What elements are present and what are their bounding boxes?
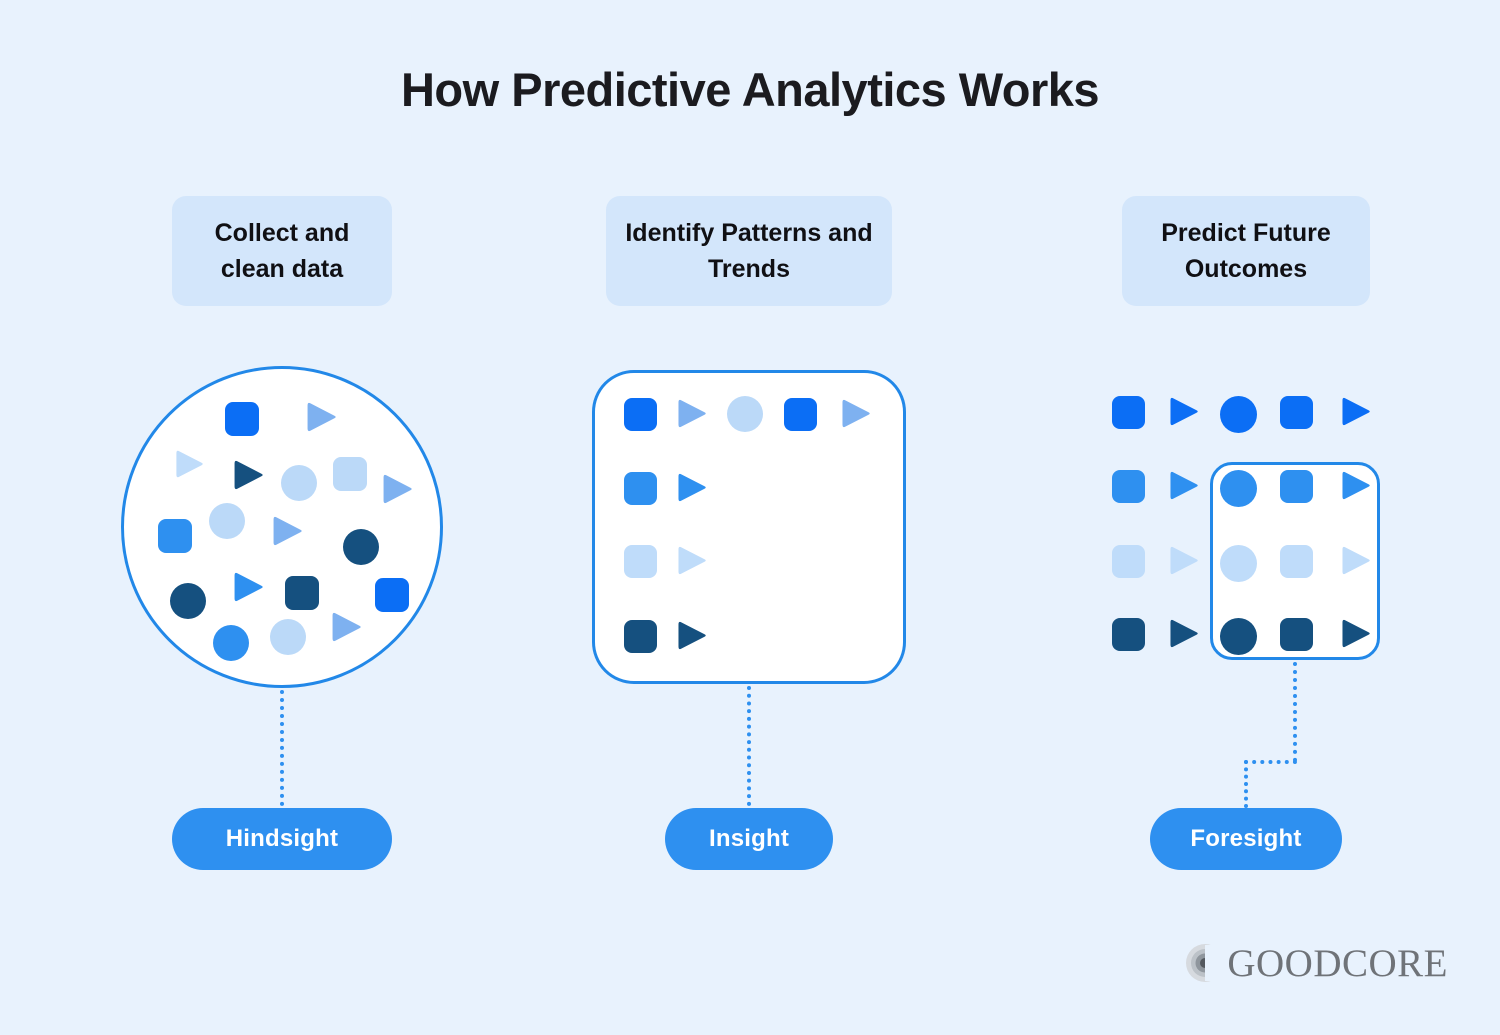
scatter-circle-icon: [270, 619, 306, 655]
pattern-circle-icon: [727, 396, 763, 432]
pattern-triangle-icon: [676, 620, 707, 651]
goodcore-logo: GOODCORE: [1038, 935, 1448, 991]
scatter-triangle-icon: [271, 515, 303, 547]
predict-square-icon: [1112, 396, 1145, 429]
pattern-square-icon: [784, 398, 817, 431]
predict-square-icon: [1280, 618, 1313, 651]
predict-square-icon: [1280, 545, 1313, 578]
predict-triangle-icon: [1168, 470, 1199, 501]
logo-wordmark: GOODCORE: [1227, 944, 1448, 983]
predict-square-icon: [1112, 618, 1145, 651]
pattern-square-icon: [624, 472, 657, 505]
pattern-triangle-icon: [676, 472, 707, 503]
connector-identify: [747, 686, 751, 806]
predict-circle-icon: [1220, 396, 1257, 433]
scatter-square-icon: [158, 519, 192, 553]
pill-label: Hindsight: [226, 825, 338, 853]
pattern-square-icon: [624, 620, 657, 653]
scatter-circle-icon: [213, 625, 249, 661]
pill-label: Insight: [709, 825, 789, 853]
predict-square-icon: [1112, 470, 1145, 503]
scatter-triangle-icon: [174, 449, 204, 479]
predict-triangle-icon: [1168, 396, 1199, 427]
pill-hindsight[interactable]: Hindsight: [172, 808, 392, 870]
step-heading-label: Identify Patterns and Trends: [620, 215, 878, 288]
step-heading-label: Predict Future Outcomes: [1136, 215, 1356, 288]
scatter-square-icon: [375, 578, 409, 612]
predict-triangle-icon: [1168, 545, 1199, 576]
predict-triangle-icon: [1340, 470, 1371, 501]
scatter-triangle-icon: [232, 571, 264, 603]
pattern-triangle-icon: [676, 545, 707, 576]
scatter-square-icon: [333, 457, 367, 491]
infographic-canvas: How Predictive Analytics Works Collect a…: [0, 0, 1500, 1035]
scatter-triangle-icon: [381, 473, 413, 505]
scatter-circle-icon: [209, 503, 245, 539]
predict-triangle-icon: [1168, 618, 1199, 649]
predict-triangle-icon: [1340, 396, 1371, 427]
scatter-triangle-icon: [305, 401, 337, 433]
connector-collect: [280, 690, 284, 806]
scatter-square-icon: [225, 402, 259, 436]
predict-circle-icon: [1220, 545, 1257, 582]
step-card-identify: Identify Patterns and Trends: [606, 196, 892, 306]
pill-label: Foresight: [1190, 825, 1301, 853]
predict-circle-icon: [1220, 618, 1257, 655]
predict-square-icon: [1280, 396, 1313, 429]
target-circle-icon: [1185, 943, 1225, 983]
scatter-circle-icon: [343, 529, 379, 565]
predict-circle-icon: [1220, 470, 1257, 507]
connector-predict-lower: [1244, 760, 1248, 808]
pattern-triangle-icon: [840, 398, 871, 429]
page-title: How Predictive Analytics Works: [0, 62, 1500, 118]
scatter-triangle-icon: [232, 459, 264, 491]
predict-triangle-icon: [1340, 545, 1371, 576]
connector-predict-horizontal: [1244, 760, 1297, 764]
scatter-circle-icon: [281, 465, 317, 501]
connector-predict-upper: [1293, 662, 1297, 762]
pill-foresight[interactable]: Foresight: [1150, 808, 1342, 870]
predict-triangle-icon: [1340, 618, 1371, 649]
pattern-square-icon: [624, 398, 657, 431]
step-card-collect: Collect and clean data: [172, 196, 392, 306]
predict-square-icon: [1112, 545, 1145, 578]
predict-square-icon: [1280, 470, 1313, 503]
pattern-square-icon: [624, 545, 657, 578]
step-heading-label: Collect and clean data: [186, 215, 378, 288]
scatter-circle-icon: [170, 583, 206, 619]
scatter-square-icon: [285, 576, 319, 610]
pattern-triangle-icon: [676, 398, 707, 429]
pill-insight[interactable]: Insight: [665, 808, 833, 870]
scatter-triangle-icon: [330, 611, 362, 643]
step-card-predict: Predict Future Outcomes: [1122, 196, 1370, 306]
